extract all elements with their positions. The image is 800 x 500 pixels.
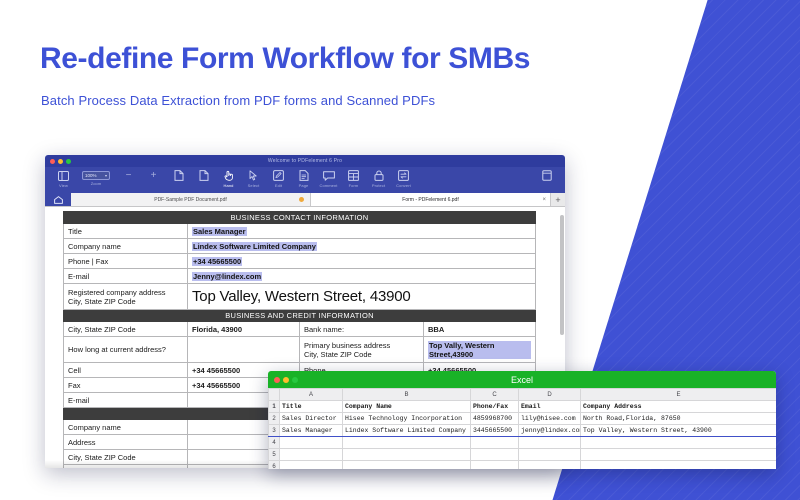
field-label-email: E-mail (64, 269, 188, 284)
select-tool-icon (247, 169, 261, 182)
excel-row-1: 1 Title Company Name Phone/Fax Email Com… (269, 401, 777, 413)
field-label-phone-fax: Phone | Fax (64, 254, 188, 269)
zoom-level-dropdown[interactable]: 100% ▾ (82, 171, 110, 180)
document-tab-1[interactable]: PDF-Sample PDF Document.pdf (71, 193, 311, 206)
comment-tool-icon (322, 169, 336, 182)
field-value-phone-fax[interactable]: +34 45665500 (188, 254, 536, 269)
cell-a2[interactable]: Sales Director (280, 413, 343, 425)
toolbar-next-page-button[interactable] (191, 169, 216, 182)
cell-d6[interactable] (519, 461, 581, 470)
field-label-registered-address: Registered company addressCity, State ZI… (64, 284, 188, 310)
pdf-scrollbar-thumb[interactable] (560, 215, 564, 335)
new-tab-button[interactable]: + (551, 193, 565, 206)
cell-d4[interactable] (519, 437, 581, 449)
page-title: Re-define Form Workflow for SMBs (40, 42, 530, 76)
cell-d3[interactable]: jenny@lindex.com (519, 425, 581, 437)
column-header-c[interactable]: C (471, 389, 519, 401)
next-page-icon (197, 169, 211, 182)
home-tab-button[interactable] (45, 193, 71, 206)
field-value-email[interactable]: Jenny@lindex.com (188, 269, 536, 284)
toolbar-hand-label: Hand (224, 183, 234, 188)
toolbar-protect-label: Protect (372, 183, 385, 188)
cell-b6[interactable] (343, 461, 471, 470)
cell-c5[interactable] (471, 449, 519, 461)
document-tab-2-label: Form - PDFelement 6.pdf (402, 197, 458, 203)
document-tab-1-label: PDF-Sample PDF Document.pdf (154, 197, 227, 203)
pdf-tab-bar[interactable]: PDF-Sample PDF Document.pdf Form - PDFel… (45, 193, 565, 207)
toolbar-view-label: View (59, 183, 68, 188)
field-value-registered-address[interactable]: Top Valley, Western Street, 43900 (188, 284, 536, 310)
toolbar-comment-label: Comment (319, 183, 337, 188)
field-label-fax: Fax (64, 378, 188, 393)
field-label-company-name: Company name (64, 239, 188, 254)
toolbar-form-label: Form (349, 183, 359, 188)
cell-d2[interactable]: lily@hisee.com (519, 413, 581, 425)
excel-row-5: 5 (269, 449, 777, 461)
section-heading-business-credit: BUSINESS AND CREDIT INFORMATION (64, 310, 536, 322)
toolbar-select-label: Select (248, 183, 260, 188)
cell-b1[interactable]: Company Name (343, 401, 471, 413)
excel-row-3: 3 Sales Manager Lindex Software Limited … (269, 425, 777, 437)
toolbar-view-button[interactable]: View (51, 169, 76, 188)
toolbar-zoom-label: Zoom (91, 181, 102, 186)
cell-c1[interactable]: Phone/Fax (471, 401, 519, 413)
toolbar-edit-label: Edit (275, 183, 282, 188)
zoom-level-value: 100% (85, 173, 97, 178)
toolbar-select-tool-button[interactable]: Select (241, 169, 266, 188)
excel-window[interactable]: Excel A B C D E 1 Title Company Name Pho… (268, 371, 776, 469)
cell-d5[interactable] (519, 449, 581, 461)
field-value-city-state-zip[interactable]: Florida, 43900 (188, 322, 300, 337)
cell-e4[interactable] (581, 437, 777, 449)
cell-a4[interactable] (280, 437, 343, 449)
field-value-bank-name[interactable]: BBA (424, 322, 536, 337)
field-label-primary-business-address: Primary business addressCity, State ZIP … (300, 337, 424, 363)
row-header-1[interactable]: 1 (269, 401, 280, 413)
page-subtitle: Batch Process Data Extraction from PDF f… (41, 93, 435, 108)
table-row: E-mail Jenny@lindex.com (64, 269, 536, 284)
column-header-e[interactable]: E (581, 389, 777, 401)
cell-e2[interactable]: North Road,Florida, 87650 (581, 413, 777, 425)
pdf-window-titlebar: Welcome to PDFelement 6 Pro (45, 155, 565, 167)
zoom-out-icon: − (126, 169, 132, 182)
cell-b4[interactable] (343, 437, 471, 449)
table-row: Phone | Fax +34 45665500 (64, 254, 536, 269)
cell-a6[interactable] (280, 461, 343, 470)
close-tab-icon[interactable]: × (542, 197, 546, 203)
toolbar-form-tool-button[interactable]: Form (341, 169, 366, 188)
excel-column-header-row: A B C D E (269, 389, 777, 401)
row-header-4[interactable]: 4 (269, 437, 280, 449)
field-label-address-3: Address (64, 435, 188, 450)
excel-spreadsheet-grid[interactable]: A B C D E 1 Title Company Name Phone/Fax… (268, 388, 776, 469)
sidebar-panel-icon (57, 169, 71, 182)
field-value-title[interactable]: Sales Manager (188, 224, 536, 239)
table-row: Registered company addressCity, State ZI… (64, 284, 536, 310)
excel-row-2: 2 Sales Director Hisee Technology Incorp… (269, 413, 777, 425)
toolbar-zoom-in-button[interactable]: + (141, 169, 166, 182)
field-label-cell: Cell (64, 363, 188, 378)
column-header-a[interactable]: A (280, 389, 343, 401)
cell-a3[interactable]: Sales Manager (280, 425, 343, 437)
field-value-primary-business-address[interactable]: Top Vally, Western Street,43900 (424, 337, 536, 363)
field-label-how-long-address: How long at current address? (64, 337, 188, 363)
field-label-title: Title (64, 224, 188, 239)
pdf-window-title: Welcome to PDFelement 6 Pro (45, 158, 565, 164)
excel-window-title: Excel (268, 375, 776, 385)
table-row: Company name Lindex Software Limited Com… (64, 239, 536, 254)
chevron-down-icon: ▾ (105, 173, 107, 178)
toolbar-comment-tool-button[interactable]: Comment (316, 169, 341, 188)
select-all-corner[interactable] (269, 389, 280, 401)
delete-page-icon (540, 169, 554, 182)
cell-c3[interactable]: 3445665500 (471, 425, 519, 437)
cell-e1[interactable]: Company Address (581, 401, 777, 413)
row-header-3[interactable]: 3 (269, 425, 280, 437)
toolbar-delete-page-button[interactable] (534, 169, 559, 182)
lock-icon (372, 169, 386, 182)
toolbar-page-tool-button[interactable]: Page (291, 169, 316, 188)
table-row: How long at current address? Primary bus… (64, 337, 536, 363)
cell-e6[interactable] (581, 461, 777, 470)
field-value-how-long-address[interactable] (188, 337, 300, 363)
toolbar-page-label: Page (299, 183, 309, 188)
cell-c2[interactable]: 4859968700 (471, 413, 519, 425)
hand-tool-icon (222, 169, 236, 182)
toolbar-convert-label: Convert (396, 183, 411, 188)
row-header-5[interactable]: 5 (269, 449, 280, 461)
toolbar-zoom-control[interactable]: 100% ▾ Zoom (76, 169, 116, 186)
field-value-company-name[interactable]: Lindex Software Limited Company (188, 239, 536, 254)
toolbar-hand-tool-button[interactable]: Hand (216, 169, 241, 188)
field-label-bank-name: Bank name: (300, 322, 424, 337)
column-header-d[interactable]: D (519, 389, 581, 401)
cell-d1[interactable]: Email (519, 401, 581, 413)
cell-e5[interactable] (581, 449, 777, 461)
table-row: BUSINESS CONTACT INFORMATION (64, 212, 536, 224)
previous-page-icon (172, 169, 186, 182)
toolbar-zoom-out-button[interactable]: − (116, 169, 141, 182)
field-label-city-state-zip: City, State ZIP Code (64, 322, 188, 337)
form-tool-icon (347, 169, 361, 182)
toolbar-previous-page-button[interactable] (166, 169, 191, 182)
cell-c6[interactable] (471, 461, 519, 470)
cell-a1[interactable]: Title (280, 401, 343, 413)
pdf-toolbar[interactable]: View 100% ▾ Zoom − + (45, 167, 565, 193)
row-header-2[interactable]: 2 (269, 413, 280, 425)
row-header-6[interactable]: 6 (269, 461, 280, 470)
unsaved-changes-indicator (299, 197, 304, 202)
page-tool-icon (297, 169, 311, 182)
cell-a5[interactable] (280, 449, 343, 461)
toolbar-protect-button[interactable]: Protect (366, 169, 391, 188)
field-label-company-name-3: Company name (64, 420, 188, 435)
table-row: BUSINESS AND CREDIT INFORMATION (64, 310, 536, 322)
table-row: City, State ZIP Code Florida, 43900 Bank… (64, 322, 536, 337)
column-header-b[interactable]: B (343, 389, 471, 401)
cell-e3[interactable]: Top Valley, Western Street, 43900 (581, 425, 777, 437)
edit-tool-icon (272, 169, 286, 182)
cell-b5[interactable] (343, 449, 471, 461)
excel-titlebar: Excel (268, 371, 776, 388)
home-icon (54, 196, 63, 204)
toolbar-convert-button[interactable]: Convert (391, 169, 416, 188)
cell-b2[interactable]: Hisee Technology Incorporation (343, 413, 471, 425)
table-row: Title Sales Manager (64, 224, 536, 239)
excel-row-4: 4 (269, 437, 777, 449)
field-label-email-2: E-mail (64, 393, 188, 408)
zoom-in-icon: + (151, 169, 157, 182)
excel-row-6: 6 (269, 461, 777, 470)
section-heading-business-contact: BUSINESS CONTACT INFORMATION (64, 212, 536, 224)
document-tab-2[interactable]: Form - PDFelement 6.pdf × (311, 193, 551, 206)
toolbar-edit-tool-button[interactable]: Edit (266, 169, 291, 188)
convert-tool-icon (397, 169, 411, 182)
cell-b3[interactable]: Lindex Software Limited Company (343, 425, 471, 437)
cell-c4[interactable] (471, 437, 519, 449)
